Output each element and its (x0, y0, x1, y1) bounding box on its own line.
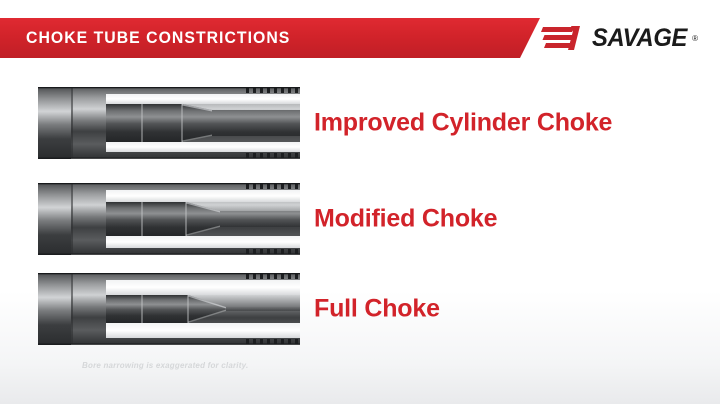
choke-tube-label: Modified Choke (314, 205, 497, 234)
savage-logo-mark (541, 24, 583, 52)
page-title: CHOKE TUBE CONSTRICTIONS (26, 28, 290, 48)
choke-tube-cutaway-svg (36, 176, 304, 262)
choke-tube-row: Modified Choke (0, 176, 720, 262)
savage-logo: SAVAGE ® (541, 20, 698, 56)
choke-tube-label: Improved Cylinder Choke (314, 109, 612, 138)
choke-tube-cutaway-svg (36, 80, 304, 166)
footnote-disclaimer: Bore narrowing is exaggerated for clarit… (82, 361, 248, 370)
choke-tube-label: Full Choke (314, 295, 440, 324)
choke-tube-diagram-modified (36, 176, 304, 262)
choke-tube-diagram-full (36, 266, 304, 352)
page-header: CHOKE TUBE CONSTRICTIONS SAVAGE ® (0, 18, 720, 58)
savage-wordmark: SAVAGE (592, 24, 687, 53)
choke-tube-cutaway-svg (36, 266, 304, 352)
registered-trademark-symbol: ® (692, 34, 698, 43)
choke-tube-row: Full Choke (0, 266, 720, 352)
choke-tube-row: Improved Cylinder Choke (0, 80, 720, 166)
title-banner: CHOKE TUBE CONSTRICTIONS (0, 18, 540, 58)
choke-tube-diagram-improved-cylinder (36, 80, 304, 166)
